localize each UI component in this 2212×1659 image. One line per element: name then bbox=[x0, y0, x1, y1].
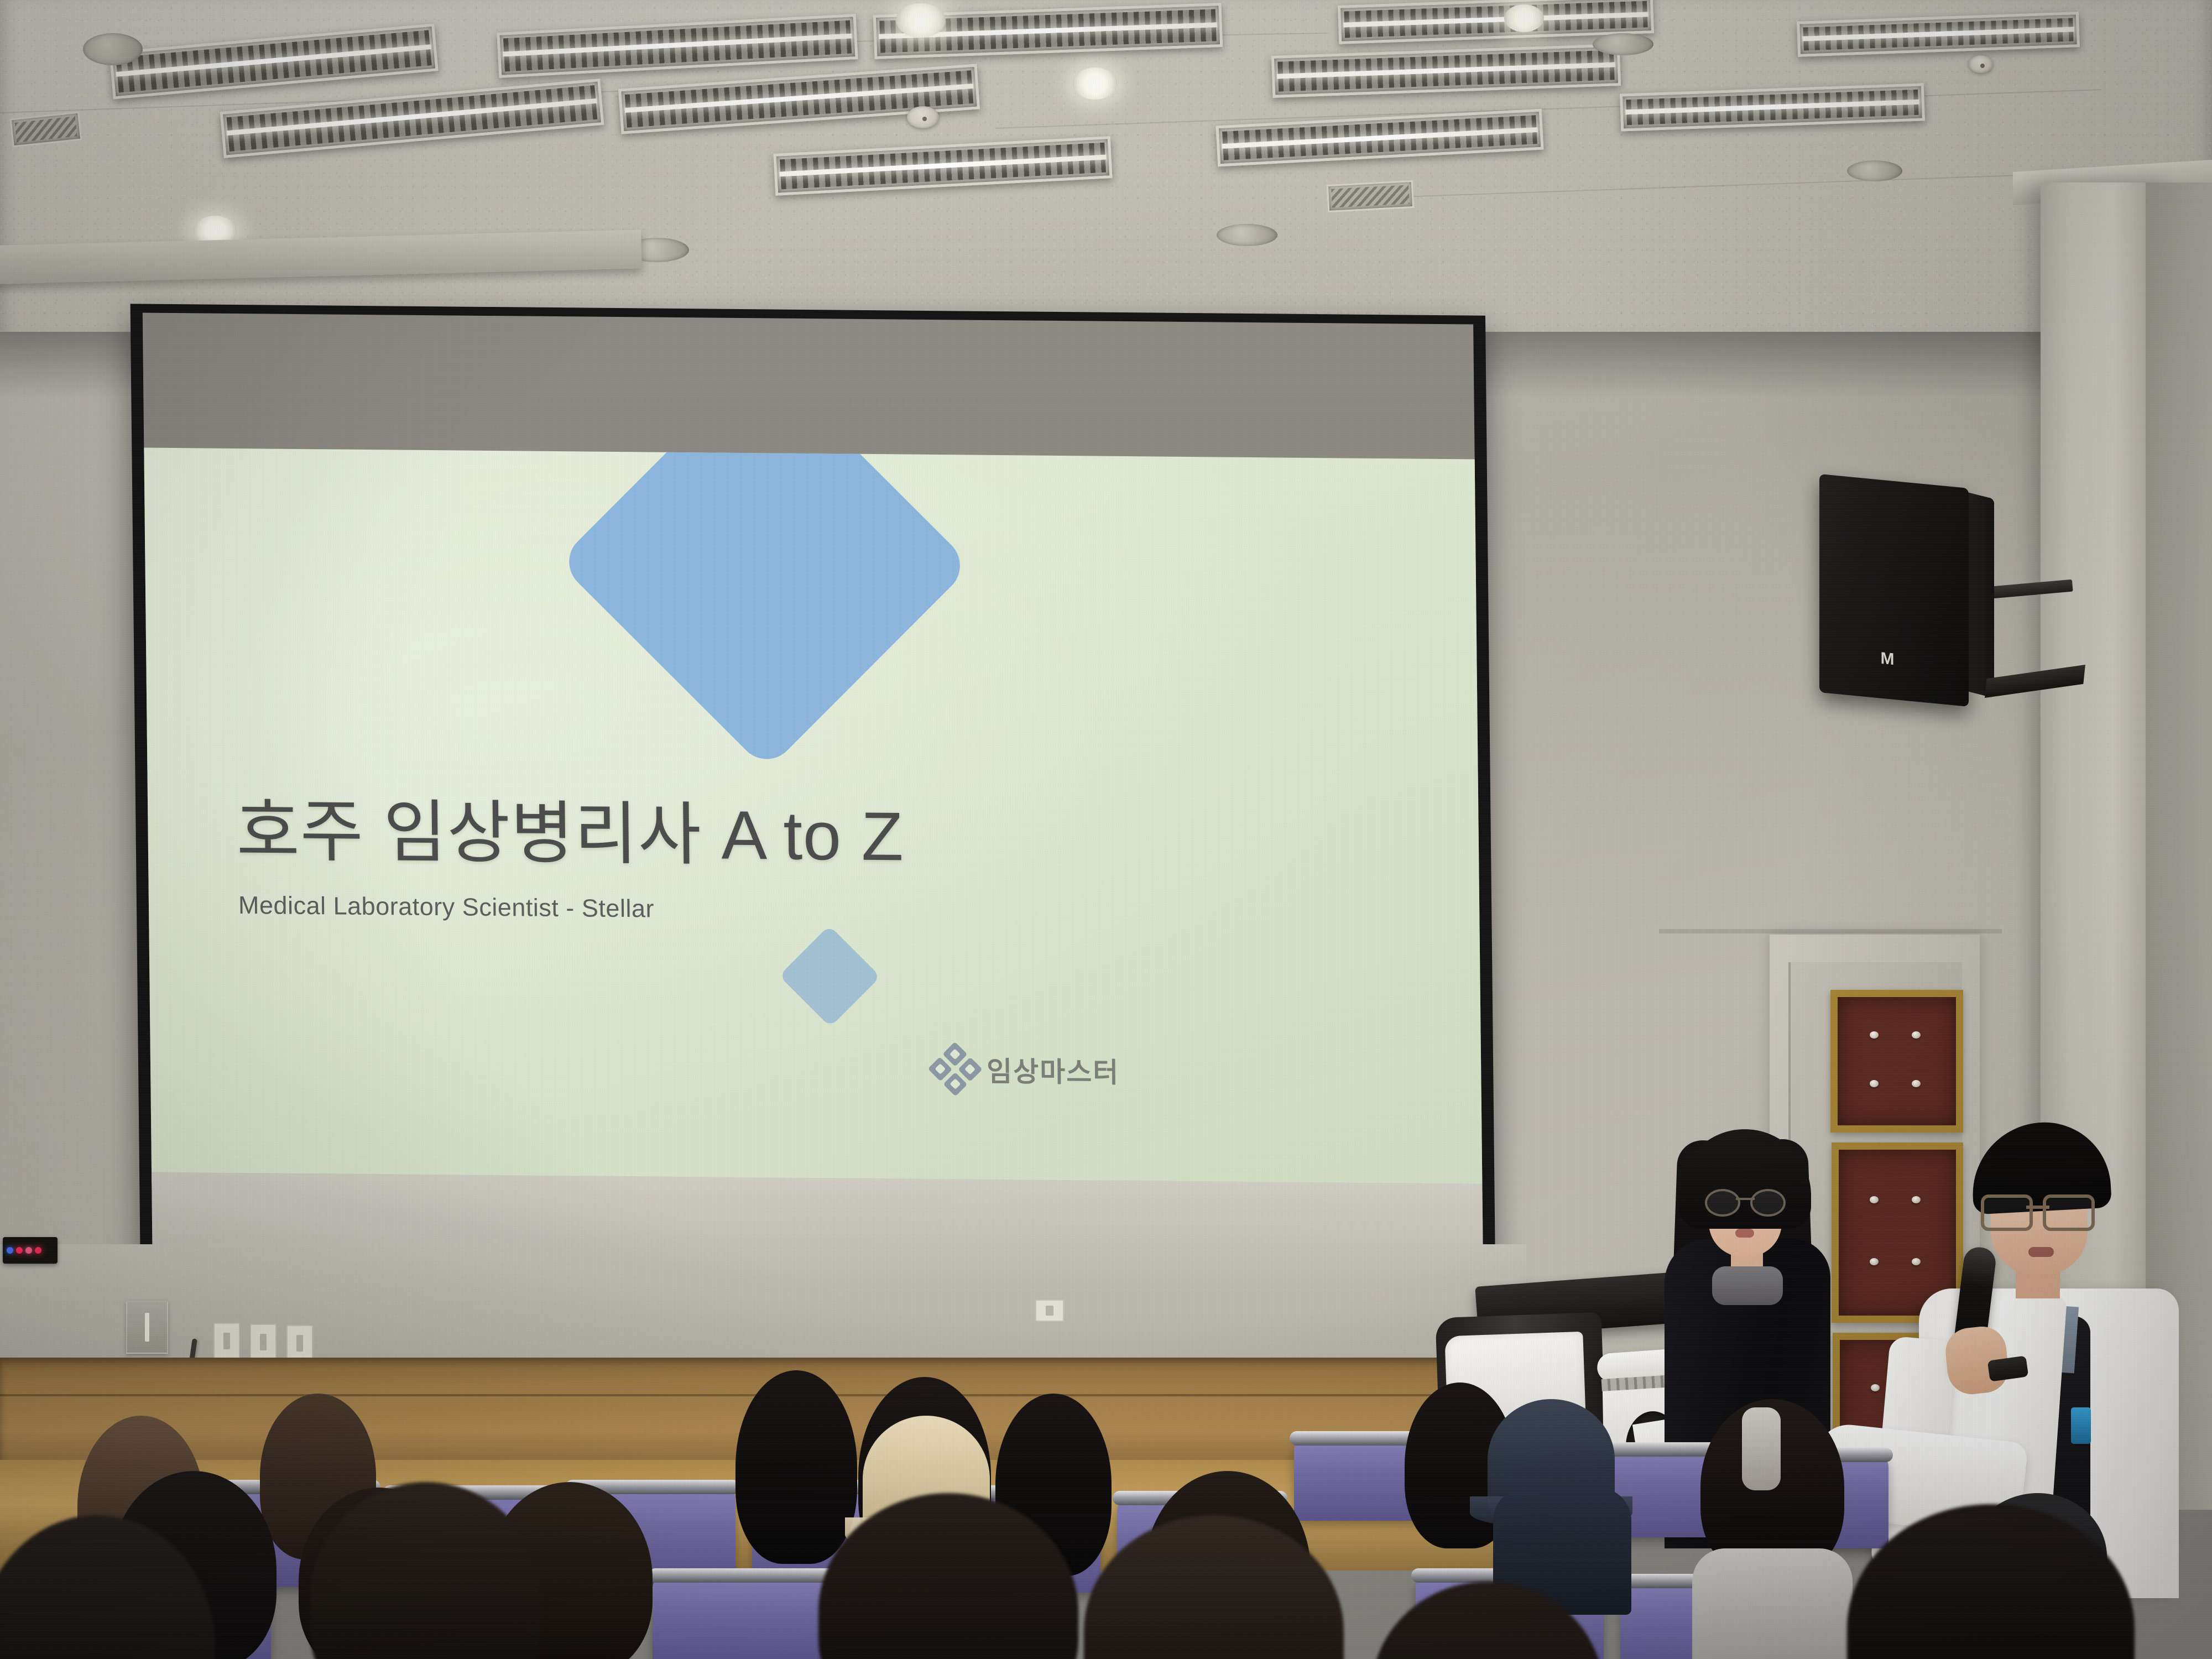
wall-outlet[interactable] bbox=[213, 1323, 240, 1359]
projected-slide: 호주 임상병리사 A to Z Medical Laboratory Scien… bbox=[144, 448, 1482, 1195]
projection-screen: 호주 임상병리사 A to Z Medical Laboratory Scien… bbox=[131, 304, 1496, 1288]
audience-sweater bbox=[1692, 1548, 1853, 1659]
wall-speaker bbox=[1819, 474, 1969, 707]
diamond-logo-icon bbox=[928, 1042, 983, 1097]
large-diamond-shape bbox=[557, 448, 972, 771]
eyeglasses-icon bbox=[1705, 1189, 1786, 1213]
smoke-detector bbox=[1969, 55, 1993, 73]
audience-head bbox=[735, 1370, 857, 1564]
recessed-downlight bbox=[896, 3, 946, 38]
smoke-detector bbox=[907, 106, 939, 128]
slide-subtitle: Medical Laboratory Scientist - Stellar bbox=[238, 891, 1068, 927]
slide-logo-text: 임상마스터 bbox=[987, 1050, 1120, 1091]
ceiling-speaker bbox=[1593, 33, 1653, 55]
door-upholstery-panel bbox=[1830, 990, 1963, 1133]
mouth bbox=[1735, 1229, 1754, 1238]
ceiling-speaker bbox=[83, 33, 143, 65]
mouth bbox=[2028, 1247, 2054, 1257]
led-status-panel bbox=[3, 1237, 58, 1264]
wall-switch-plate[interactable] bbox=[126, 1301, 168, 1354]
eyeglasses-icon bbox=[1981, 1194, 2095, 1225]
inner-collar bbox=[1712, 1266, 1783, 1305]
hair-clip bbox=[1742, 1407, 1781, 1490]
auditorium-photo: M 호주 임상병리사 A to Z Medical Laboratory Sci… bbox=[0, 0, 2212, 1659]
wall-outlet[interactable] bbox=[286, 1325, 313, 1361]
slide-logo: 임상마스터 bbox=[936, 1049, 1120, 1091]
air-vent bbox=[1327, 180, 1414, 212]
ceiling-speaker bbox=[1847, 160, 1902, 181]
recessed-downlight bbox=[1073, 67, 1117, 100]
wall-outlet[interactable] bbox=[250, 1324, 276, 1360]
wall-outlet[interactable] bbox=[1035, 1300, 1064, 1322]
speaker-brand-icon: M bbox=[1877, 649, 1898, 670]
id-badge bbox=[2071, 1407, 2091, 1444]
auditorium-seat bbox=[653, 1576, 841, 1659]
ceiling-speaker bbox=[1217, 224, 1277, 246]
recessed-downlight bbox=[1504, 4, 1544, 32]
small-diamond-shape bbox=[779, 925, 880, 1027]
wall-molding bbox=[1659, 929, 2002, 933]
wall-speaker-assembly: M bbox=[1819, 473, 2057, 716]
slide-title: 호주 임상병리사 A to Z bbox=[236, 775, 1177, 883]
